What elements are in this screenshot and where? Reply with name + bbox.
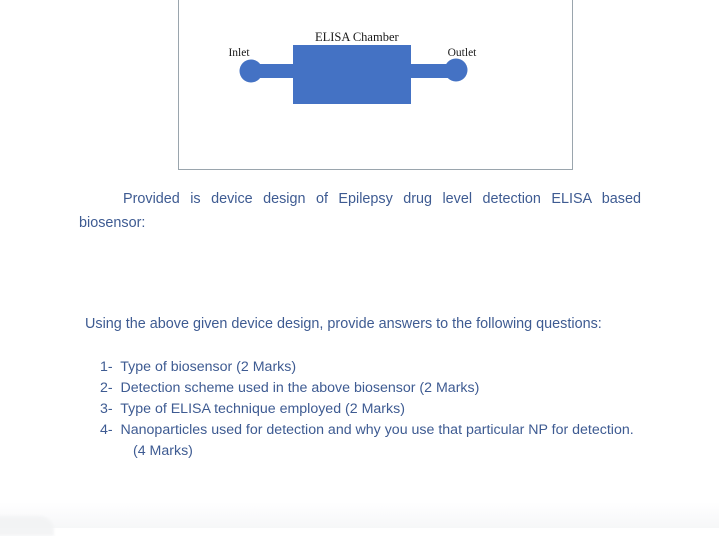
- document-page: ELISA Chamber Inlet Outlet Provided is d…: [0, 0, 719, 528]
- question-item: 4- Nanoparticles used for detection and …: [100, 420, 645, 462]
- question-list: 1- Type of biosensor (2 Marks) 2- Detect…: [100, 357, 645, 462]
- page-bottom-edge: [0, 502, 719, 528]
- question-marker: 2-: [100, 380, 117, 396]
- elisa-device-schematic: ELISA Chamber Inlet Outlet: [179, 0, 574, 170]
- question-marker: 1-: [100, 359, 117, 375]
- device-diagram-figure: ELISA Chamber Inlet Outlet: [178, 0, 573, 170]
- outlet-port-circle: [445, 59, 468, 82]
- question-marker: 3-: [100, 401, 117, 417]
- outlet-label: Outlet: [448, 47, 478, 59]
- question-item: 3- Type of ELISA technique employed (2 M…: [100, 399, 645, 420]
- question-item: 2- Detection scheme used in the above bi…: [100, 378, 645, 399]
- elisa-chamber-label: ELISA Chamber: [315, 30, 400, 44]
- inlet-label: Inlet: [228, 47, 250, 59]
- question-marker: 4-: [100, 422, 117, 438]
- question-text: Type of biosensor (2 Marks): [120, 359, 296, 375]
- question-text: Detection scheme used in the above biose…: [121, 380, 480, 396]
- inlet-port-circle: [240, 60, 263, 83]
- question-text: Nanoparticles used for detection and why…: [121, 422, 634, 459]
- intro-paragraph: Provided is device design of Epilepsy dr…: [79, 187, 641, 235]
- question-text: Type of ELISA technique employed (2 Mark…: [120, 401, 405, 417]
- question-prompt-paragraph: Using the above given device design, pro…: [79, 312, 641, 337]
- question-item: 1- Type of biosensor (2 Marks): [100, 357, 645, 378]
- page-corner-shadow: [0, 516, 54, 536]
- elisa-chamber-rect: [293, 45, 411, 104]
